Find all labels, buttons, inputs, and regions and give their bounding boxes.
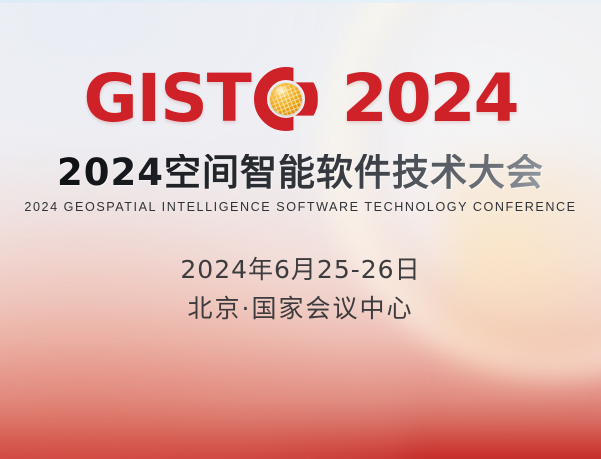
logo-letters-text: GIST [84, 66, 251, 132]
headline-english: 2024 GEOSPATIAL INTELLIGENCE SOFTWARE TE… [24, 200, 576, 214]
event-meta: 2024年6月25-26日 北京·国家会议中心 [180, 256, 420, 324]
logo-ring-c-icon [254, 67, 318, 131]
logo-letters: GIST [84, 66, 316, 132]
event-date: 2024年6月25-26日 [180, 256, 420, 285]
poster-content: GIST 2024 2024空间智能软件技术大会 2024 GEOSPATIAL… [0, 0, 601, 459]
conference-poster: GIST 2024 2024空间智能软件技术大会 2024 GEOSPATIAL… [0, 0, 601, 459]
logo-year: 2024 [342, 66, 518, 132]
headline-chinese: 2024空间智能软件技术大会 [57, 154, 544, 191]
logo-wordmark: GIST 2024 [84, 66, 518, 132]
gold-globe-icon [270, 83, 302, 115]
event-venue: 北京·国家会议中心 [188, 295, 414, 324]
